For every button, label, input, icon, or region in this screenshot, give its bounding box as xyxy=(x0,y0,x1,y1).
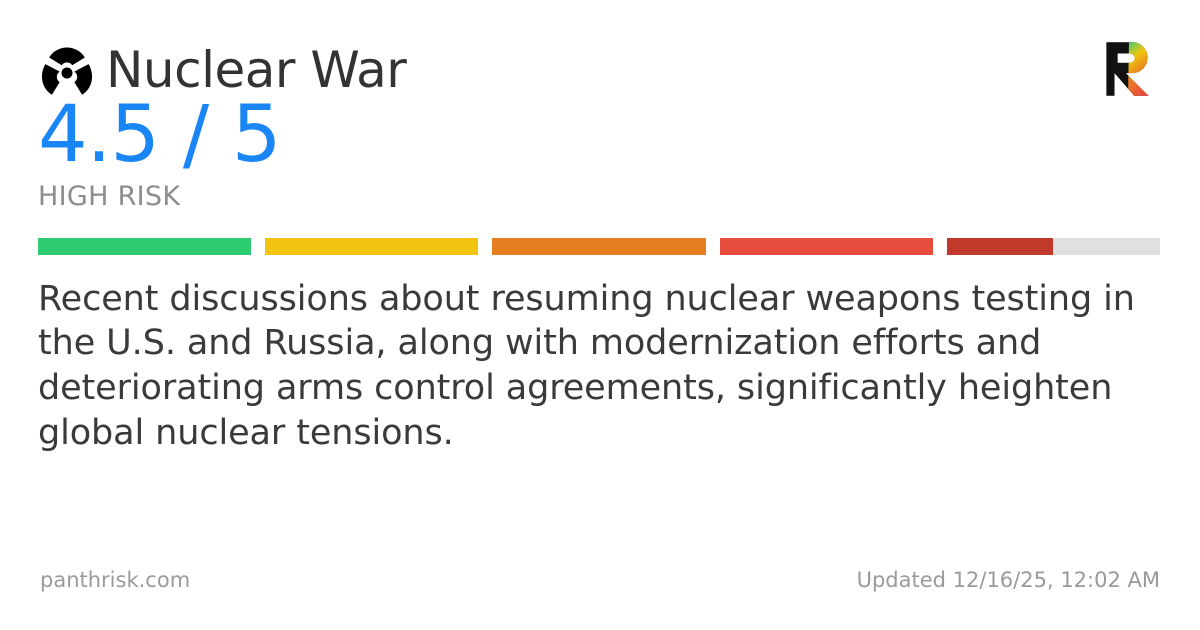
site-name: panthrisk.com xyxy=(40,568,190,592)
meter-segment-4-fill xyxy=(720,238,933,255)
page-title: Nuclear War xyxy=(106,44,406,97)
meter-segment-4 xyxy=(720,238,933,255)
risk-description: Recent discussions about resuming nuclea… xyxy=(38,277,1160,456)
meter-segment-5 xyxy=(947,238,1160,255)
risk-level-label: HIGH RISK xyxy=(38,182,1160,212)
risk-meter xyxy=(38,238,1160,255)
updated-timestamp: Updated 12/16/25, 12:02 AM xyxy=(857,568,1160,592)
score-value: 4.5 / 5 xyxy=(38,96,1160,174)
meter-segment-3 xyxy=(492,238,705,255)
meter-segment-1-fill xyxy=(38,238,251,255)
meter-segment-2-fill xyxy=(265,238,478,255)
panthrisk-r-logo xyxy=(1102,40,1154,98)
score-block: 4.5 / 5 HIGH RISK xyxy=(38,96,1160,212)
meter-segment-2 xyxy=(265,238,478,255)
meter-segment-1 xyxy=(38,238,251,255)
meter-segment-3-fill xyxy=(492,238,705,255)
meter-segment-5-fill xyxy=(947,238,1054,255)
risk-card: Nuclear War 4.5 / 5 HIGH RISK xyxy=(0,0,1200,630)
footer: panthrisk.com Updated 12/16/25, 12:02 AM xyxy=(40,568,1160,592)
